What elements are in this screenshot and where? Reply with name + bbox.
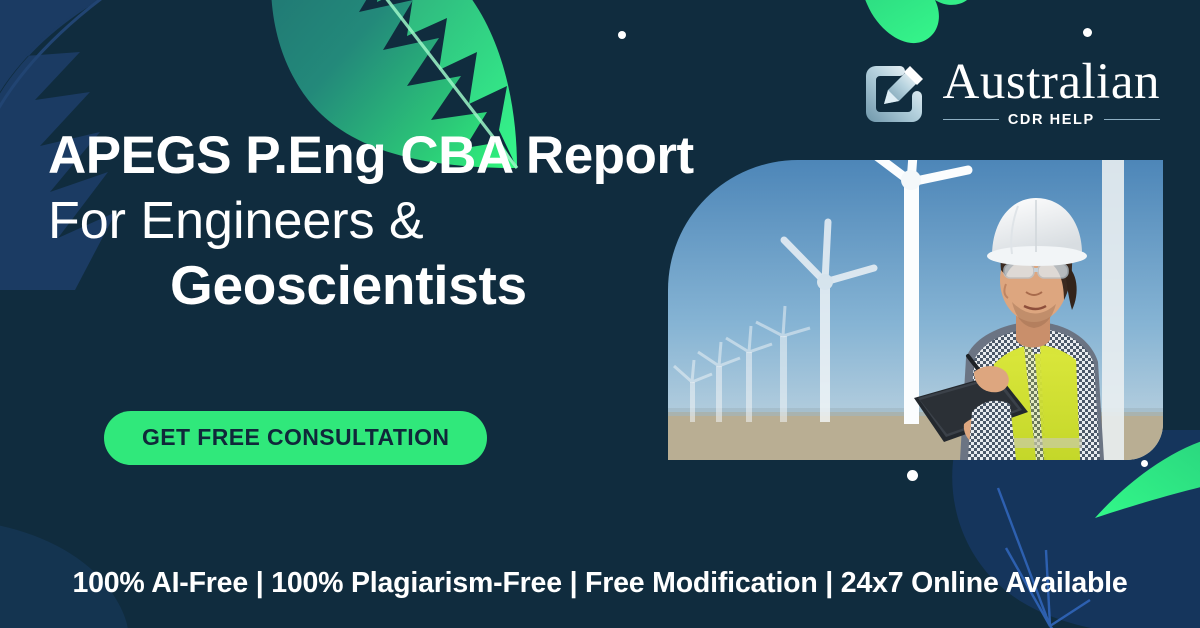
headline-line-2: For Engineers & bbox=[48, 190, 708, 253]
dot-bottom-far-right bbox=[1141, 460, 1148, 467]
headline-line-1: APEGS P.Eng CBA Report bbox=[48, 128, 708, 184]
footer-benefits-text: 100% AI-Free | 100% Plagiarism-Free | Fr… bbox=[72, 567, 1127, 600]
brand-logo[interactable]: Australian CDR HELP bbox=[863, 58, 1160, 128]
dot-bottom-right bbox=[907, 470, 918, 481]
get-free-consultation-button[interactable]: GET FREE CONSULTATION bbox=[104, 411, 487, 465]
logo-text-block: Australian CDR HELP bbox=[943, 58, 1160, 128]
logo-wordmark: Australian bbox=[943, 58, 1160, 108]
promo-banner: Australian CDR HELP APEGS P.Eng CBA Repo… bbox=[0, 0, 1200, 628]
pencil-edit-square-icon bbox=[863, 60, 929, 126]
headline-block: APEGS P.Eng CBA Report For Engineers & G… bbox=[48, 128, 708, 316]
logo-subtitle: CDR HELP bbox=[1008, 112, 1095, 128]
engineer-photo-illustration bbox=[668, 160, 1163, 460]
headline-line-3: Geoscientists bbox=[48, 255, 708, 316]
logo-rule-left bbox=[943, 119, 999, 120]
footer-bar: 100% AI-Free | 100% Plagiarism-Free | Fr… bbox=[0, 538, 1200, 628]
logo-rule-right bbox=[1104, 119, 1160, 120]
green-leaf-blob-decoration bbox=[855, 0, 985, 60]
dot-top-right bbox=[1083, 28, 1092, 37]
dot-top-left bbox=[618, 31, 626, 39]
logo-subtitle-row: CDR HELP bbox=[943, 112, 1160, 128]
engineer-photo bbox=[668, 160, 1163, 460]
